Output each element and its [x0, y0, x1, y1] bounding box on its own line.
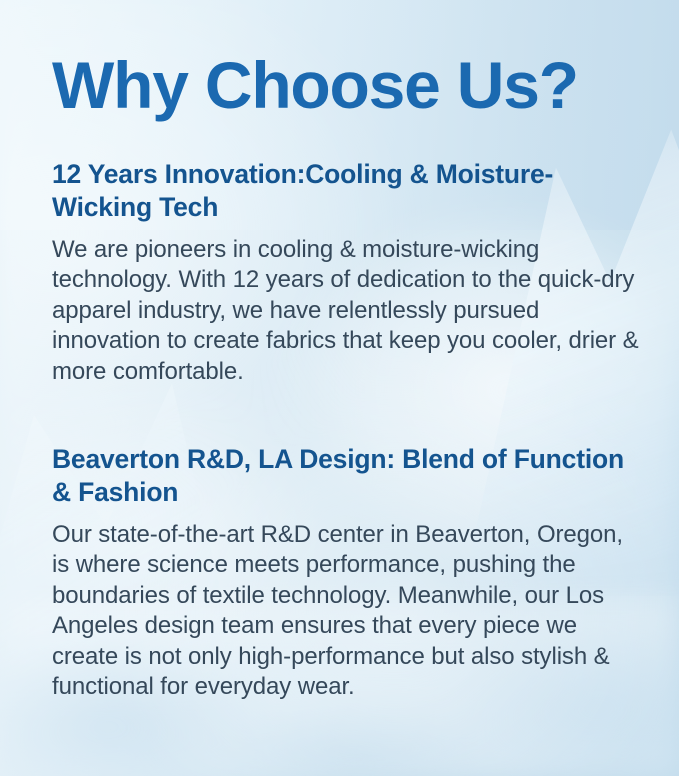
section-body-rnd-design: Our state-of-the-art R&D center in Beave… — [52, 520, 639, 703]
section-heading-innovation: 12 Years Innovation:Cooling & Moisture-W… — [52, 158, 639, 225]
section-heading-rnd-design: Beaverton R&D, LA Design: Blend of Funct… — [52, 443, 639, 510]
content-container: Why Choose Us? 12 Years Innovation:Cooli… — [0, 0, 679, 703]
why-choose-us-banner: Why Choose Us? 12 Years Innovation:Cooli… — [0, 0, 679, 776]
section-innovation: 12 Years Innovation:Cooling & Moisture-W… — [52, 158, 639, 387]
section-rnd-design: Beaverton R&D, LA Design: Blend of Funct… — [52, 443, 639, 703]
page-title: Why Choose Us? — [52, 0, 639, 118]
section-body-innovation: We are pioneers in cooling & moisture-wi… — [52, 235, 639, 387]
